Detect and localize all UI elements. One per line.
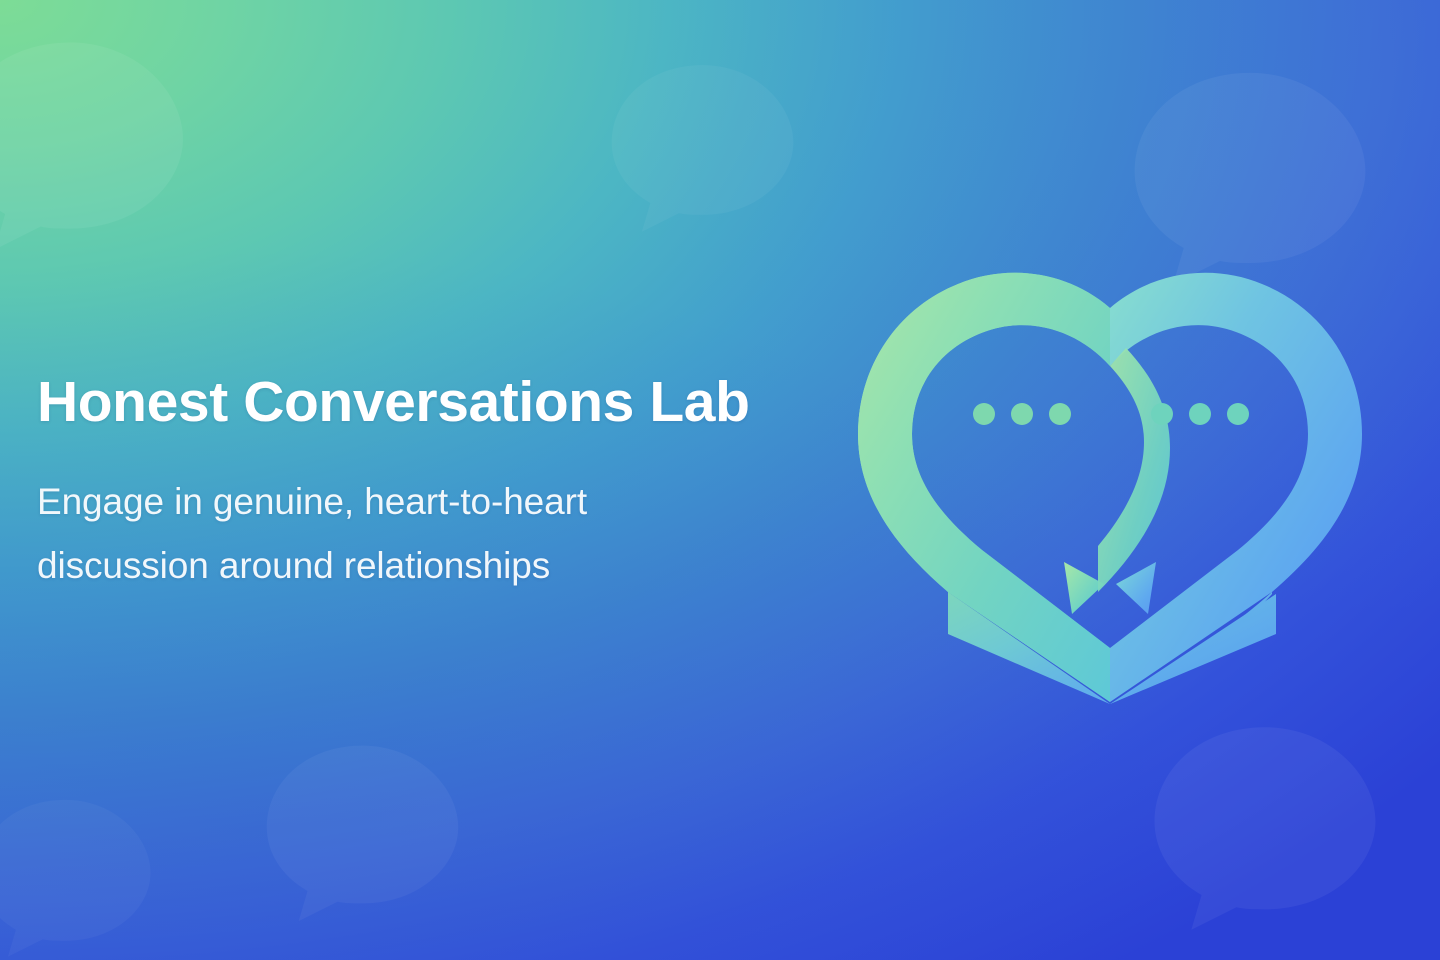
watermark-chat-bubble-icon	[600, 55, 805, 240]
heart-chat-bubbles-logo	[836, 262, 1384, 704]
dot-icon	[973, 403, 995, 425]
splash-screen: Honest Conversations Lab Engage in genui…	[0, 0, 1440, 960]
watermark-chat-bubble-icon	[0, 790, 160, 960]
dot-icon	[1189, 403, 1211, 425]
watermark-chat-bubble-icon	[1120, 60, 1380, 295]
dot-icon	[1049, 403, 1071, 425]
watermark-chat-bubble-icon	[255, 735, 470, 930]
tagline-line-1: Engage in genuine, heart-to-heart	[37, 470, 737, 534]
dot-icon	[1151, 403, 1173, 425]
dot-icon	[1011, 403, 1033, 425]
watermark-chat-bubble-icon	[0, 30, 200, 260]
left-bubble-dots	[973, 403, 1071, 425]
right-bubble-dots	[1151, 403, 1249, 425]
page-title: Honest Conversations Lab	[37, 372, 797, 432]
dot-icon	[1227, 403, 1249, 425]
tagline-line-2: discussion around relationships	[37, 534, 737, 598]
watermark-chat-bubble-icon	[1140, 715, 1390, 940]
hero-copy: Honest Conversations Lab Engage in genui…	[37, 372, 797, 598]
page-tagline: Engage in genuine, heart-to-heart discus…	[37, 470, 737, 598]
